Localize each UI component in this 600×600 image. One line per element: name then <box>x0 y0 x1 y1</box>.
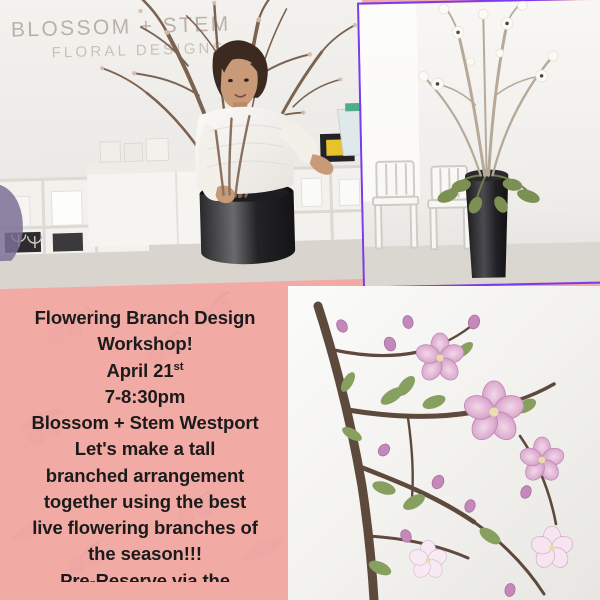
text-line-date: April 21st <box>0 358 290 384</box>
date-ordinal-suffix: st <box>174 360 184 372</box>
text-line-time: 7-8:30pm <box>0 384 290 410</box>
date-text: April 21 <box>106 360 173 381</box>
workshop-demo-photo: BLOSSOM + STEM FLORAL DESIGNS <box>0 0 370 289</box>
event-details-text: Flowering Branch Design Workshop! April … <box>0 305 290 582</box>
text-line-location: Blossom + Stem Westport <box>0 410 290 436</box>
text-line-title-1: Flowering Branch Design <box>0 305 290 331</box>
text-line-body-1: Let's make a tall <box>0 436 290 462</box>
blossom-closeup-photo <box>288 286 600 600</box>
text-line-title-2: Workshop! <box>0 331 290 357</box>
vase-arrangement-photo <box>357 0 600 289</box>
text-line-body-3: together using the best <box>0 489 290 515</box>
text-line-body-4: live flowering branches of <box>0 515 290 541</box>
text-line-partial-reserve: Pre-Reserve via the <box>0 568 290 582</box>
text-line-body-2: branched arrangement <box>0 463 290 489</box>
text-line-body-5: the season!!! <box>0 541 290 567</box>
event-poster: BLOSSOM + STEM FLORAL DESIGNS <box>0 0 600 600</box>
